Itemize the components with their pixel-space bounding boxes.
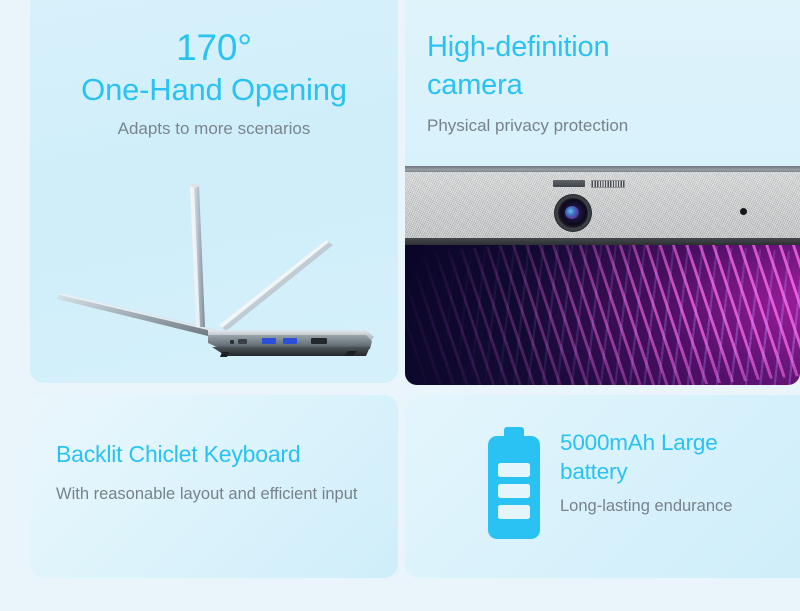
- camera-subtitle: Physical privacy protection: [427, 115, 757, 138]
- webcam-closeup-photo: [405, 166, 800, 385]
- camera-title-line1: High-definition: [427, 28, 757, 66]
- feature-card-camera: High-definition camera Physical privacy …: [405, 0, 800, 385]
- lid-position-90: [190, 183, 205, 327]
- keyboard-subtitle: With reasonable layout and efficient inp…: [56, 483, 386, 505]
- port-hdmi: [311, 338, 327, 344]
- port-usb-c: [238, 339, 247, 344]
- camera-lens: [558, 198, 588, 228]
- microphone-grille: [591, 180, 625, 188]
- battery-title: 5000mAh Large battery: [560, 429, 785, 487]
- hinge-text-block: 170° One-Hand Opening Adapts to more sce…: [30, 28, 398, 141]
- port-audio: [230, 340, 234, 344]
- lid-position-170: [57, 293, 216, 337]
- laptop-base: [208, 330, 374, 357]
- battery-level-bar-3: [498, 505, 530, 519]
- keyboard-text-block: Backlit Chiclet Keyboard With reasonable…: [56, 441, 386, 505]
- camera-title-line2: camera: [427, 66, 757, 104]
- battery-title-line1: 5000mAh Large: [560, 429, 785, 458]
- feature-card-battery: 5000mAh Large battery Long-lasting endur…: [405, 395, 800, 578]
- battery-level-bar-1: [498, 463, 530, 477]
- battery-level-bar-2: [498, 484, 530, 498]
- battery-subtitle: Long-lasting endurance: [560, 495, 785, 517]
- lid-position-130: [219, 240, 333, 331]
- hinge-title: One-Hand Opening: [30, 71, 398, 110]
- keyboard-title: Backlit Chiclet Keyboard: [56, 441, 386, 469]
- battery-icon: [483, 427, 545, 539]
- product-feature-grid: 170° One-Hand Opening Adapts to more sce…: [0, 0, 800, 611]
- wallpaper-dash-pattern-secondary: [405, 245, 800, 385]
- laptop-screen-wallpaper: [405, 245, 800, 385]
- port-usb-a-2: [283, 338, 297, 344]
- hinge-degree-label: 170°: [30, 28, 398, 69]
- camera-title: High-definition camera: [427, 28, 757, 105]
- screen-bezel: [405, 172, 800, 238]
- battery-text-block: 5000mAh Large battery Long-lasting endur…: [560, 429, 785, 517]
- port-usb-a-1: [262, 338, 276, 344]
- feature-card-keyboard: Backlit Chiclet Keyboard With reasonable…: [30, 395, 398, 578]
- bezel-inner-edge: [405, 238, 800, 245]
- feature-card-hinge: 170° One-Hand Opening Adapts to more sce…: [30, 0, 398, 383]
- camera-text-block: High-definition camera Physical privacy …: [427, 28, 757, 137]
- battery-title-line2: battery: [560, 458, 785, 487]
- privacy-shutter-slider: [553, 180, 585, 187]
- camera-indicator-led: [740, 208, 747, 215]
- hinge-subtitle: Adapts to more scenarios: [30, 118, 398, 141]
- laptop-hinge-illustration: [30, 175, 398, 383]
